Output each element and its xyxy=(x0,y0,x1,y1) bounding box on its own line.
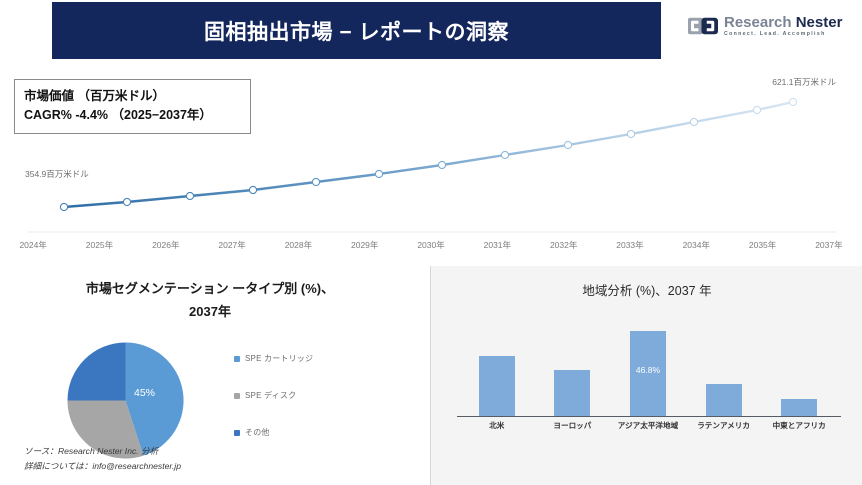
source-line-1: ソース：Research Nester Inc. 分析 xyxy=(24,444,181,459)
x-tick-2024: 2024年 xyxy=(0,239,66,251)
brand-logo: Research Nester Connect. Lead. Accomplis… xyxy=(688,14,842,38)
legend-label-spe-cartridge: SPE カートリッジ xyxy=(245,353,313,364)
cagr-label: CAGR% -4.4% （2025−2037年） xyxy=(24,106,241,125)
market-value-label: 市場価値 （百万米ドル） xyxy=(24,87,241,106)
regional-bar-chart: 46.8% xyxy=(459,324,837,416)
bar-latin-america xyxy=(706,384,742,416)
legend-item-other[interactable]: その他 xyxy=(234,414,354,451)
bar-label-latin-america: ラテンアメリカ xyxy=(686,420,762,431)
brand-name-part1: Research xyxy=(724,14,792,31)
x-tick-2034: 2034年 xyxy=(663,239,729,251)
bar-asia-pacific: 46.8% xyxy=(630,331,666,416)
regional-analysis-panel: 地域分析 (%)、2037 年 46.8% 北米 ヨーロッパ xyxy=(430,266,862,485)
x-tick-2037: 2037年 xyxy=(796,239,862,251)
line-chart-x-axis-labels: 2024年 2025年 2026年 2027年 2028年 2029年 2030… xyxy=(0,239,862,251)
bar-slot-europe xyxy=(535,324,611,416)
page-header: 固相抽出市場 − レポートの洞察 Research Nester Connect… xyxy=(0,0,862,62)
regional-bar-baseline xyxy=(457,416,841,417)
legend-item-spe-cartridge[interactable]: SPE カートリッジ xyxy=(234,340,354,377)
bar-middle-east-africa xyxy=(781,399,817,416)
brand-tagline: Connect. Lead. Accomplish xyxy=(724,32,842,37)
brand-name-part2: Nester xyxy=(796,14,843,31)
x-tick-2028: 2028年 xyxy=(265,239,331,251)
source-note: ソース：Research Nester Inc. 分析 詳細については：info… xyxy=(24,444,181,473)
x-tick-2035: 2035年 xyxy=(729,239,795,251)
pie-slice-value-label: 45% xyxy=(134,387,155,399)
brand-name: Research Nester xyxy=(724,15,842,30)
pie-slice-other xyxy=(68,343,126,401)
research-nester-link-logo-icon xyxy=(688,14,718,38)
bar-label-middle-east-africa: 中東とアフリカ xyxy=(761,420,837,431)
legend-swatch-icon xyxy=(234,393,240,399)
bar-slot-asia-pacific: 46.8% xyxy=(610,324,686,416)
segmentation-title-line1: 市場セグメンテーション ータイプ別 (%)、 xyxy=(0,278,420,301)
x-tick-2029: 2029年 xyxy=(332,239,398,251)
x-tick-2033: 2033年 xyxy=(597,239,663,251)
bar-slot-north-america xyxy=(459,324,535,416)
bar-label-europe: ヨーロッパ xyxy=(535,420,611,431)
legend-label-spe-disc: SPE ディスク xyxy=(245,390,296,401)
market-value-callout: 市場価値 （百万米ドル） CAGR% -4.4% （2025−2037年） xyxy=(14,79,251,134)
bottom-section: 市場セグメンテーション ータイプ別 (%)、 2037年 45% SPE カート… xyxy=(0,266,862,485)
legend-swatch-icon xyxy=(234,356,240,362)
x-tick-2026: 2026年 xyxy=(133,239,199,251)
x-tick-2032: 2032年 xyxy=(531,239,597,251)
x-tick-2027: 2027年 xyxy=(199,239,265,251)
bar-europe xyxy=(554,370,590,416)
x-tick-2025: 2025年 xyxy=(66,239,132,251)
brand-logo-text: Research Nester Connect. Lead. Accomplis… xyxy=(724,15,842,37)
legend-item-spe-disc[interactable]: SPE ディスク xyxy=(234,377,354,414)
regional-bar-labels: 北米 ヨーロッパ アジア太平洋地域 ラテンアメリカ 中東とアフリカ xyxy=(459,420,837,431)
bar-slot-middle-east-africa xyxy=(761,324,837,416)
legend-swatch-icon xyxy=(234,430,240,436)
source-line-2: 詳細については：info@researchnester.jp xyxy=(24,459,181,474)
bar-north-america xyxy=(479,356,515,416)
x-tick-2030: 2030年 xyxy=(398,239,464,251)
bar-label-north-america: 北米 xyxy=(459,420,535,431)
bar-slot-latin-america xyxy=(686,324,762,416)
segmentation-legend: SPE カートリッジ SPE ディスク その他 xyxy=(234,340,354,451)
segmentation-panel: 市場セグメンテーション ータイプ別 (%)、 2037年 45% SPE カート… xyxy=(0,266,420,485)
segmentation-title: 市場セグメンテーション ータイプ別 (%)、 2037年 xyxy=(0,278,420,324)
bar-value-asia-pacific: 46.8% xyxy=(610,365,686,375)
regional-analysis-title: 地域分析 (%)、2037 年 xyxy=(431,280,862,299)
segmentation-title-line2: 2037年 xyxy=(0,301,420,324)
page-title: 固相抽出市場 − レポートの洞察 xyxy=(204,16,509,46)
bar-label-asia-pacific: アジア太平洋地域 xyxy=(610,420,686,431)
legend-label-other: その他 xyxy=(245,427,270,438)
x-tick-2031: 2031年 xyxy=(464,239,530,251)
header-title-bar: 固相抽出市場 − レポートの洞察 xyxy=(52,2,661,59)
